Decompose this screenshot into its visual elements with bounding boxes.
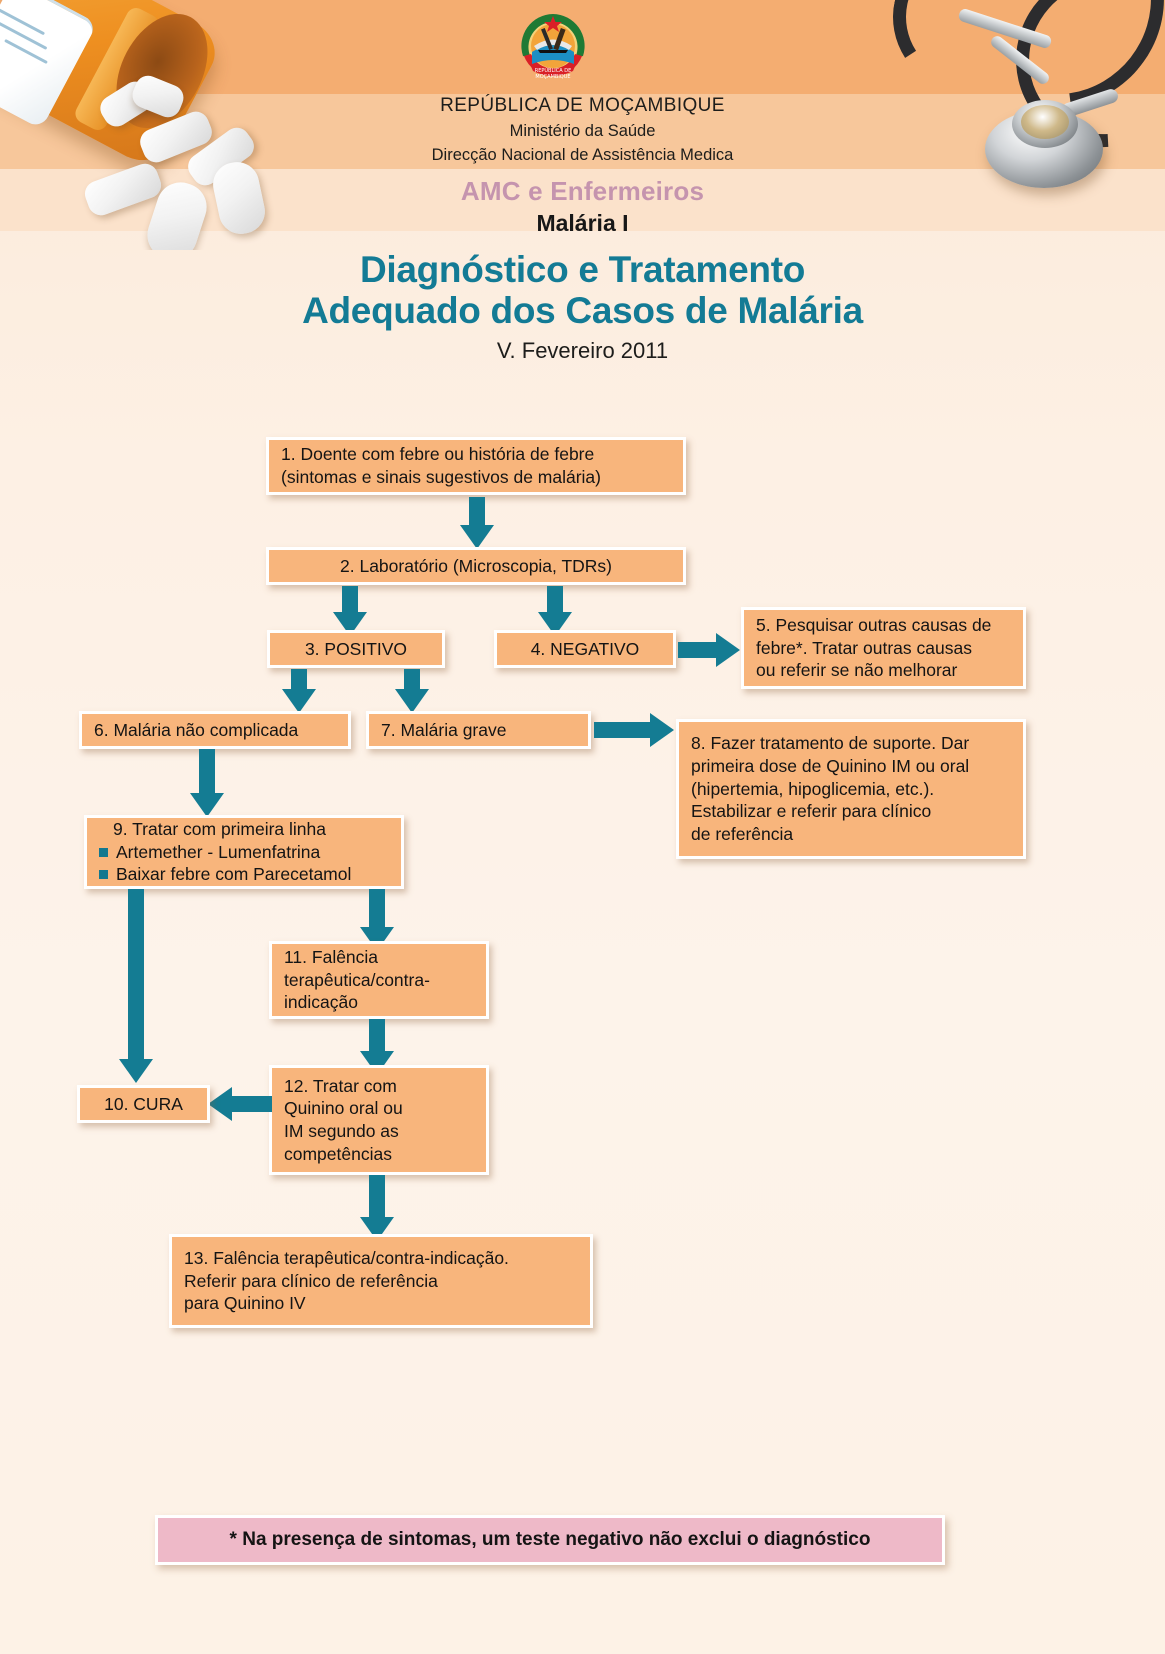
flow-node-12-line-1: Quinino oral ou bbox=[284, 1097, 474, 1120]
arrow-9-to-10 bbox=[119, 889, 153, 1084]
flow-node-11-line-2: indicação bbox=[284, 991, 474, 1014]
flow-node-13-line-1: Referir para clínico de referência bbox=[184, 1270, 578, 1293]
flow-node-4-line-0: 4. NEGATIVO bbox=[509, 638, 661, 661]
flow-node-12-line-3: competências bbox=[284, 1143, 474, 1166]
flow-node-12-line-0: 12. Tratar com bbox=[284, 1075, 474, 1098]
arrow-2-to-4 bbox=[538, 586, 572, 636]
arrow-2-to-3 bbox=[333, 586, 367, 636]
flow-node-6-line-0: 6. Malária não complicada bbox=[94, 719, 336, 742]
flow-node-2-line-0: 2. Laboratório (Microscopia, TDRs) bbox=[281, 555, 671, 578]
flow-node-1: 1. Doente com febre ou história de febre… bbox=[266, 437, 686, 495]
flow-node-8: 8. Fazer tratamento de suporte. Dar prim… bbox=[676, 719, 1026, 859]
arrow-4-to-5 bbox=[678, 633, 740, 667]
flow-node-1-line-0: 1. Doente com febre ou história de febre bbox=[281, 443, 671, 466]
flow-node-13-line-2: para Quinino IV bbox=[184, 1292, 578, 1315]
arrow-3-to-7 bbox=[395, 669, 429, 713]
flow-node-9-bullet-1-row: Baixar febre com Parecetamol bbox=[99, 863, 389, 886]
flow-node-13: 13. Falência terapêutica/contra-indicaçã… bbox=[169, 1234, 593, 1328]
flow-node-8-line-0: 8. Fazer tratamento de suporte. Dar bbox=[691, 732, 1011, 755]
flow-node-9-bullet-0: Artemether - Lumenfatrina bbox=[116, 841, 320, 864]
flow-node-12-line-2: IM segundo as bbox=[284, 1120, 474, 1143]
flow-node-8-line-1: primeira dose de Quinino IM ou oral bbox=[691, 755, 1011, 778]
flow-node-10: 10. CURA bbox=[77, 1085, 210, 1123]
flow-node-8-line-4: de referência bbox=[691, 823, 1011, 846]
bullet-square-icon bbox=[99, 870, 108, 879]
arrow-12-to-10 bbox=[208, 1087, 272, 1121]
flow-node-8-line-3: Estabilizar e referir para clínico bbox=[691, 800, 1011, 823]
flow-node-1-line-1: (sintomas e sinais sugestivos de malária… bbox=[281, 466, 671, 489]
arrow-3-to-6 bbox=[282, 669, 316, 713]
flow-node-2: 2. Laboratório (Microscopia, TDRs) bbox=[266, 547, 686, 585]
flow-node-11: 11. Falência terapêutica/contra- indicaç… bbox=[269, 941, 489, 1019]
flow-node-11-line-0: 11. Falência bbox=[284, 946, 474, 969]
flow-node-6: 6. Malária não complicada bbox=[79, 711, 351, 749]
flow-node-9: 9. Tratar com primeira linha Artemether … bbox=[84, 815, 404, 889]
flow-node-8-line-2: (hipertemia, hipoglicemia, etc.). bbox=[691, 778, 1011, 801]
flow-node-7-line-0: 7. Malária grave bbox=[381, 719, 576, 742]
flow-node-9-bullet-1: Baixar febre com Parecetamol bbox=[116, 863, 351, 886]
flow-node-3: 3. POSITIVO bbox=[267, 630, 445, 668]
arrow-1-to-2 bbox=[460, 497, 494, 549]
flow-node-5-line-1: febre*. Tratar outras causas bbox=[756, 637, 1011, 660]
flow-node-7: 7. Malária grave bbox=[366, 711, 591, 749]
flow-node-4: 4. NEGATIVO bbox=[494, 630, 676, 668]
flow-node-12: 12. Tratar com Quinino oral ou IM segund… bbox=[269, 1065, 489, 1175]
bullet-square-icon bbox=[99, 848, 108, 857]
flow-node-13-line-0: 13. Falência terapêutica/contra-indicaçã… bbox=[184, 1247, 578, 1270]
flow-node-5-line-2: ou referir se não melhorar bbox=[756, 659, 1011, 682]
footnote-banner: * Na presença de sintomas, um teste nega… bbox=[155, 1515, 945, 1565]
footnote-text: * Na presença de sintomas, um teste nega… bbox=[230, 1529, 871, 1551]
arrow-6-to-9 bbox=[190, 749, 224, 817]
flow-node-11-line-1: terapêutica/contra- bbox=[284, 969, 474, 992]
flow-node-5: 5. Pesquisar outras causas de febre*. Tr… bbox=[741, 607, 1026, 689]
flowchart: 1. Doente com febre ou história de febre… bbox=[0, 0, 1165, 1654]
arrow-12-to-13 bbox=[360, 1175, 394, 1241]
flow-node-9-bullet-0-row: Artemether - Lumenfatrina bbox=[99, 841, 389, 864]
flow-node-9-heading: 9. Tratar com primeira linha bbox=[99, 818, 389, 841]
flow-node-10-line-0: 10. CURA bbox=[92, 1093, 195, 1116]
flow-node-5-line-0: 5. Pesquisar outras causas de bbox=[756, 614, 1011, 637]
arrow-7-to-8 bbox=[594, 713, 676, 747]
flow-node-3-line-0: 3. POSITIVO bbox=[282, 638, 430, 661]
